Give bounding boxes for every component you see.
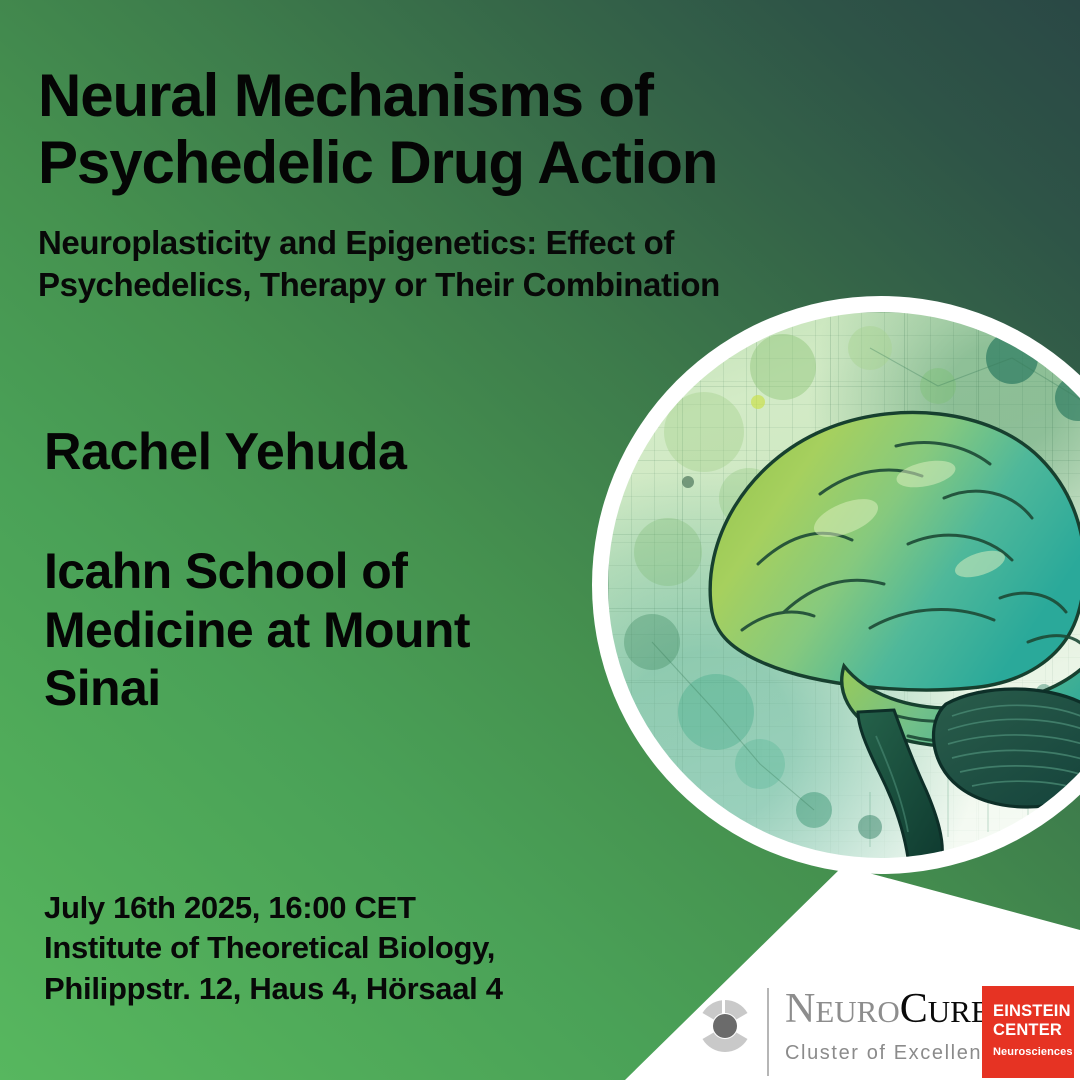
event-details: July 16th 2025, 16:00 CET Institute of T… bbox=[44, 888, 664, 1009]
poster-subtitle: Neuroplasticity and Epigenetics: Effect … bbox=[38, 222, 738, 306]
neurocure-wordmark: NEUROCURE bbox=[785, 988, 1006, 1030]
event-poster: Neural Mechanisms of Psychedelic Drug Ac… bbox=[0, 0, 1080, 1080]
wordmark-euro: EURO bbox=[815, 994, 899, 1029]
speaker-name: Rachel Yehuda bbox=[44, 424, 406, 481]
event-venue-line-2: Philippstr. 12, Haus 4, Hörsaal 4 bbox=[44, 969, 664, 1009]
wordmark-ure: URE bbox=[928, 994, 990, 1029]
wordmark-n: N bbox=[785, 986, 815, 1032]
brain-artwork bbox=[608, 312, 1080, 858]
neurocure-circle-mark-icon bbox=[697, 998, 753, 1054]
neurocure-logo: NEUROCURE Cluster of Excellence bbox=[697, 988, 1006, 1076]
wordmark-c: C bbox=[900, 986, 928, 1032]
brain-shape bbox=[608, 312, 1080, 858]
einstein-line-2: CENTER bbox=[993, 1021, 1074, 1040]
page-title: Neural Mechanisms of Psychedelic Drug Ac… bbox=[38, 62, 868, 196]
brain-image-circle bbox=[592, 296, 1080, 874]
logo-tagline: Cluster of Excellence bbox=[785, 1042, 1006, 1065]
einstein-center-badge: EINSTEIN CENTER Neurosciences bbox=[982, 986, 1074, 1078]
logo-divider bbox=[767, 988, 769, 1076]
einstein-line-3: Neurosciences bbox=[993, 1046, 1074, 1058]
einstein-line-1: EINSTEIN bbox=[993, 1002, 1074, 1021]
event-date-time: July 16th 2025, 16:00 CET bbox=[44, 888, 664, 928]
event-venue-line-1: Institute of Theoretical Biology, bbox=[44, 928, 664, 968]
neurocure-wordblock: NEUROCURE Cluster of Excellence bbox=[785, 988, 1006, 1065]
speaker-affiliation: Icahn School of Medicine at Mount Sinai bbox=[44, 542, 564, 718]
